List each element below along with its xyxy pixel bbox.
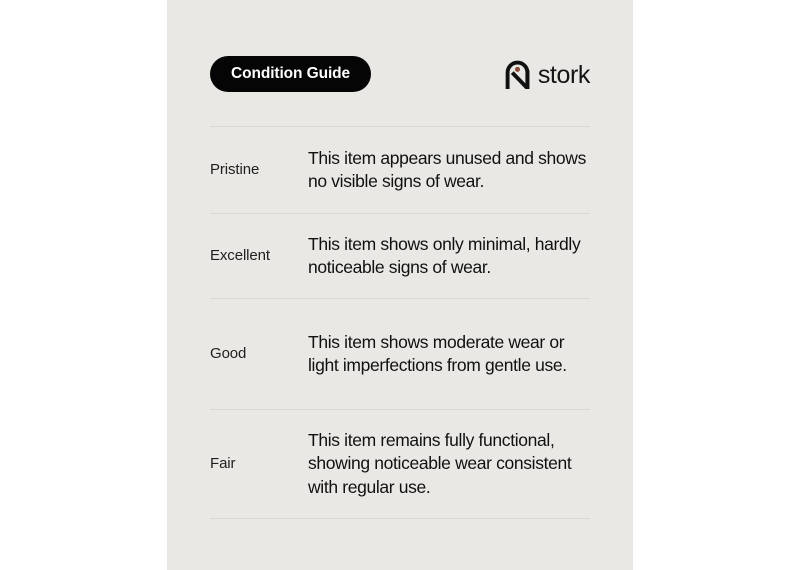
table-row: Fair This item remains fully functional,… — [210, 410, 590, 518]
condition-description: This item appears unused and shows no vi… — [308, 147, 590, 194]
condition-guide-badge: Condition Guide — [210, 56, 371, 92]
condition-label: Excellent — [210, 247, 308, 265]
table-row: Pristine This item appears unused and sh… — [210, 127, 590, 213]
card-header: Condition Guide stork — [210, 56, 590, 92]
condition-description: This item shows moderate wear or light i… — [308, 331, 590, 378]
condition-guide-table: Pristine This item appears unused and sh… — [210, 126, 590, 519]
brand-lockup: stork — [504, 59, 590, 89]
condition-guide-card: Condition Guide stork Pristine This item… — [167, 0, 633, 570]
table-row: Excellent This item shows only minimal, … — [210, 214, 590, 298]
condition-description: This item shows only minimal, hardly not… — [308, 233, 590, 280]
table-row: Good This item shows moderate wear or li… — [210, 299, 590, 409]
page-root: Condition Guide stork Pristine This item… — [0, 0, 800, 570]
condition-label: Pristine — [210, 161, 308, 179]
brand-wordmark: stork — [538, 63, 590, 88]
condition-description: This item remains fully functional, show… — [308, 429, 590, 499]
row-divider — [210, 518, 590, 519]
condition-label: Fair — [210, 455, 308, 473]
stork-arch-logo-icon — [504, 59, 531, 89]
condition-label: Good — [210, 345, 308, 363]
